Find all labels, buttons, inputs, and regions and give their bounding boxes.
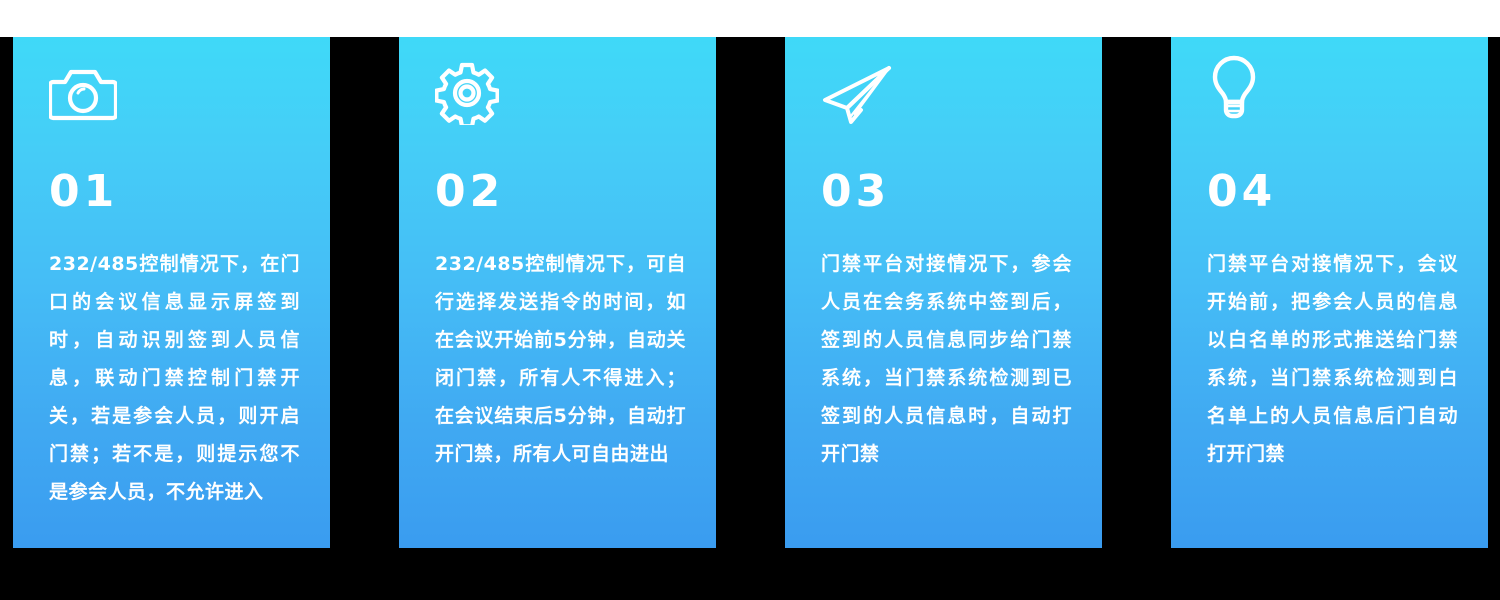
card-number: 04 (1207, 170, 1276, 214)
camera-icon (49, 60, 121, 126)
feature-card-3[interactable]: 03 门禁平台对接情况下，参会人员在会务系统中签到后，签到的人员信息同步给门禁系… (785, 37, 1102, 548)
card-gap-1 (330, 37, 399, 600)
card-description: 232/485控制情况下，在门口的会议信息显示屏签到时，自动识别签到人员信息，联… (49, 245, 300, 511)
card-number: 03 (821, 170, 890, 214)
lightbulb-icon (1209, 56, 1281, 122)
card-description: 232/485控制情况下，可自行选择发送指令的时间，如在会议开始前5分钟，自动关… (435, 245, 686, 473)
card-gap-2 (716, 37, 785, 600)
right-black-edge (1488, 37, 1500, 600)
top-white-strip (0, 0, 1500, 37)
left-black-edge (0, 37, 13, 600)
paper-plane-icon (821, 62, 893, 128)
card-description: 门禁平台对接情况下，会议开始前，把参会人员的信息以白名单的形式推送给门禁系统，当… (1207, 245, 1458, 473)
infographic-canvas: 01 232/485控制情况下，在门口的会议信息显示屏签到时，自动识别签到人员信… (0, 0, 1500, 600)
feature-card-1[interactable]: 01 232/485控制情况下，在门口的会议信息显示屏签到时，自动识别签到人员信… (13, 37, 330, 548)
feature-card-2[interactable]: 02 232/485控制情况下，可自行选择发送指令的时间，如在会议开始前5分钟，… (399, 37, 716, 548)
feature-card-4[interactable]: 04 门禁平台对接情况下，会议开始前，把参会人员的信息以白名单的形式推送给门禁系… (1171, 37, 1488, 548)
card-gap-3 (1102, 37, 1171, 600)
card-number: 01 (49, 170, 118, 214)
card-number: 02 (435, 170, 504, 214)
gear-icon (435, 60, 507, 126)
bottom-black-band (0, 548, 1500, 600)
card-description: 门禁平台对接情况下，参会人员在会务系统中签到后，签到的人员信息同步给门禁系统，当… (821, 245, 1072, 473)
